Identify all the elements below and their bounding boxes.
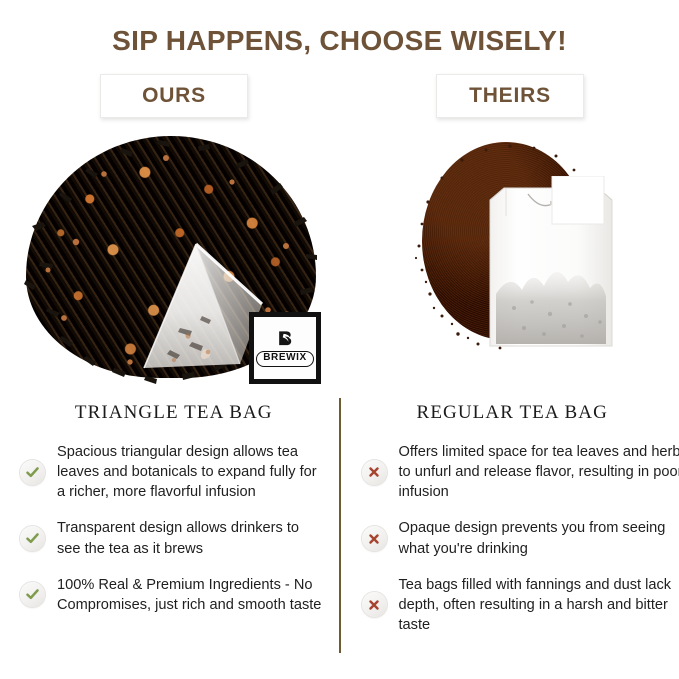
comparison-section: TRIANGLE TEA BAG Spacious triangular des… (0, 392, 679, 651)
cross-icon (362, 526, 387, 551)
ours-bullet-list: Spacious triangular design allows tea le… (0, 442, 340, 615)
brand-tag: BREWIX (249, 312, 321, 384)
check-icon (20, 526, 45, 551)
list-item: Offers limited space for tea leaves and … (362, 442, 679, 502)
product-image-stage: BREWIX (0, 130, 679, 392)
column-badge-row: OURS THEIRS (0, 74, 679, 126)
ours-product-image: BREWIX (18, 130, 338, 390)
theirs-heading: REGULAR TEA BAG (340, 402, 679, 442)
list-item: Transparent design allows drinkers to se… (20, 518, 326, 558)
badge-ours: OURS (100, 74, 248, 118)
list-item-text: Tea bags filled with fannings and dust l… (399, 575, 679, 635)
list-item-text: Opaque design prevents you from seeing w… (399, 518, 679, 558)
list-item-text: Spacious triangular design allows tea le… (57, 442, 326, 502)
list-item: Tea bags filled with fannings and dust l… (362, 575, 679, 635)
column-divider (339, 398, 341, 653)
cross-icon (362, 592, 387, 617)
ours-heading: TRIANGLE TEA BAG (0, 402, 340, 442)
theirs-product-image (408, 138, 648, 388)
list-item: Opaque design prevents you from seeing w… (362, 518, 679, 558)
badge-theirs: THEIRS (436, 74, 584, 118)
list-item: Spacious triangular design allows tea le… (20, 442, 326, 502)
pyramid-tea-bag-icon (136, 242, 264, 372)
theirs-bullet-list: Offers limited space for tea leaves and … (340, 442, 679, 635)
ours-column: TRIANGLE TEA BAG Spacious triangular des… (0, 402, 340, 651)
theirs-column: REGULAR TEA BAG Offers limited space for… (340, 402, 679, 651)
brand-name: BREWIX (256, 351, 314, 367)
check-icon (20, 460, 45, 485)
list-item-text: Offers limited space for tea leaves and … (399, 442, 679, 502)
list-item: 100% Real & Premium Ingredients - No Com… (20, 575, 326, 615)
list-item-text: 100% Real & Premium Ingredients - No Com… (57, 575, 326, 615)
brewix-logo-icon (276, 329, 295, 348)
page-title: SIP HAPPENS, CHOOSE WISELY! (0, 0, 679, 55)
flat-paper-tea-bag-icon (486, 176, 616, 354)
list-item-text: Transparent design allows drinkers to se… (57, 518, 326, 558)
check-icon (20, 582, 45, 607)
cross-icon (362, 460, 387, 485)
